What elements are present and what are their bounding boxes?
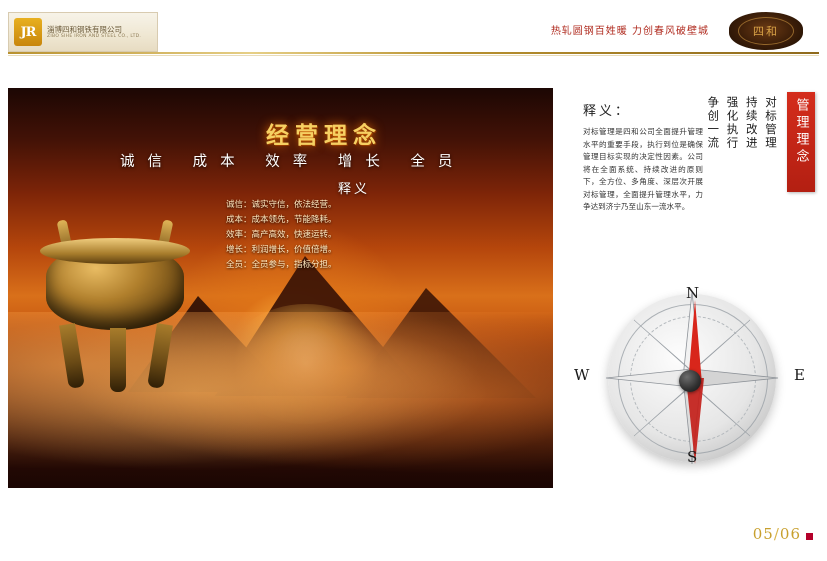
page-current: 05	[753, 525, 774, 543]
header-slogan: 热轧圆钢百姓暖 力创春风破壁城	[551, 22, 709, 37]
seal-text: 四和	[753, 23, 779, 39]
page-canvas: JR 淄博四和钢铁有限公司 ZIBO SIHE IRON AND STEEL C…	[0, 0, 827, 561]
company-logo-block: JR 淄博四和钢铁有限公司 ZIBO SIHE IRON AND STEEL C…	[8, 12, 158, 52]
definition-item: 诚信：诚实守信，依法经营。	[226, 198, 376, 213]
company-name: 淄博四和钢铁有限公司	[47, 25, 141, 34]
hero-title: 经营理念	[266, 116, 382, 150]
ding-rim	[40, 238, 190, 264]
company-name-english: ZIBO SIHE IRON AND STEEL CO., LTD.	[47, 34, 141, 40]
right-text-panel: 释义： 对标管理是四和公司全面提升管理水平的重要手段，执行到位是确保管理目标实现…	[575, 92, 819, 292]
ding-leg-right	[147, 323, 173, 389]
compass-label-west: W	[574, 366, 589, 384]
red-tag-text: 管理理念	[792, 98, 811, 166]
right-body-text: 对标管理是四和公司全面提升管理水平的重要手段，执行到位是确保管理目标实现的决定性…	[583, 126, 703, 214]
vertical-column: 对标管理	[762, 96, 779, 246]
definition-heading: 释义	[338, 178, 370, 197]
right-heading: 释义：	[583, 100, 631, 119]
page-marker-square	[806, 533, 813, 540]
vertical-column: 持续改进	[743, 96, 760, 246]
vertical-slogan-columns: 对标管理 持续改进 强化执行 争创一流	[715, 96, 779, 246]
compass-label-north: N	[686, 284, 699, 302]
compass-label-east: E	[794, 366, 805, 384]
compass-graphic: N S W E	[556, 278, 824, 500]
definition-list: 诚信：诚实守信，依法经营。 成本：成本领先，节能降耗。 效率：高产高效，快速运转…	[226, 198, 376, 272]
definition-item: 成本：成本领先，节能降耗。	[226, 213, 376, 228]
vertical-column: 争创一流	[704, 96, 721, 246]
seal-icon: 四和	[729, 12, 803, 50]
red-tag-banner: 管理理念	[787, 92, 815, 192]
page-header: JR 淄博四和钢铁有限公司 ZIBO SIHE IRON AND STEEL C…	[0, 8, 827, 54]
page-total: 06	[780, 525, 801, 543]
header-divider-thin	[8, 55, 819, 56]
hero-image-panel: 经营理念 诚信 成本 效率 增长 全员 释义 诚信：诚实守信，依法经营。 成本：…	[8, 88, 553, 488]
page-number: 05/06	[753, 525, 801, 543]
jr-logo-icon: JR	[14, 18, 42, 46]
hero-keywords: 诚信 成本 效率 增长 全员	[120, 150, 465, 171]
definition-item: 增长：利润增长，价值倍增。	[226, 243, 376, 258]
header-divider	[8, 52, 819, 54]
ding-leg-left	[59, 323, 85, 389]
bronze-ding-vessel	[30, 216, 200, 396]
compass-label-south: S	[687, 448, 697, 466]
definition-item: 全员：全员参与，指标分担。	[226, 258, 376, 273]
company-name-block: 淄博四和钢铁有限公司 ZIBO SIHE IRON AND STEEL CO.,…	[47, 25, 141, 40]
vertical-column: 强化执行	[723, 96, 740, 246]
ding-leg-center	[110, 328, 126, 392]
compass-hub	[679, 370, 701, 392]
definition-item: 效率：高产高效，快速运转。	[226, 228, 376, 243]
